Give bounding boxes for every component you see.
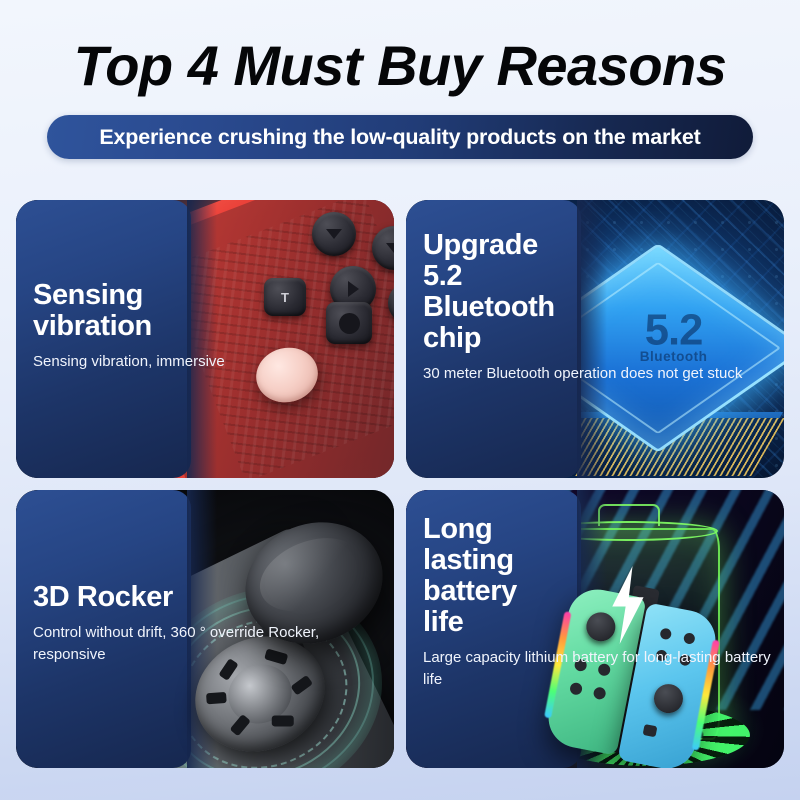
card-description: Large capacity lithium battery for long-…: [423, 647, 776, 691]
card-text-content: Upgrade 5.2 Bluetooth chip 30 meter Blue…: [423, 230, 776, 385]
subtitle-banner: Experience crushing the low-quality prod…: [47, 115, 753, 159]
card-title-line: life: [423, 607, 776, 638]
card-text-content: Sensing vibration Sensing vibration, imm…: [33, 280, 386, 373]
card-title-line: vibration: [33, 311, 386, 342]
feature-card-battery-life[interactable]: Long lasting battery life Large capacity…: [406, 490, 784, 768]
subtitle-banner-wrapper: Experience crushing the low-quality prod…: [0, 115, 800, 159]
card-title: Upgrade 5.2 Bluetooth chip: [423, 230, 776, 354]
card-title: 3D Rocker: [33, 582, 386, 613]
feature-card-grid: T Sensing vibration Sensing vibration, i…: [16, 200, 784, 782]
card-title-line: 5.2: [423, 261, 776, 292]
card-title-line: battery: [423, 576, 776, 607]
card-title-line: chip: [423, 323, 776, 354]
card-title-line: Upgrade: [423, 230, 776, 261]
feature-card-sensing-vibration[interactable]: T Sensing vibration Sensing vibration, i…: [16, 200, 394, 478]
card-title-line: lasting: [423, 545, 776, 576]
dpad-down-button-icon: [312, 212, 356, 256]
feature-card-bluetooth-chip[interactable]: 5.2 Bluetooth Upgrade 5.2 Bluetooth chip…: [406, 200, 784, 478]
card-title: Sensing vibration: [33, 280, 386, 342]
card-description: Sensing vibration, immersive: [33, 351, 386, 373]
card-title-line: Long: [423, 514, 776, 545]
card-description: 30 meter Bluetooth operation does not ge…: [423, 363, 776, 385]
card-title-line: Sensing: [33, 280, 386, 311]
page-title: Top 4 Must Buy Reasons: [0, 0, 800, 94]
card-title: Long lasting battery life: [423, 514, 776, 638]
card-text-content: 3D Rocker Control without drift, 360 ° o…: [33, 582, 386, 666]
card-title-line: Bluetooth: [423, 292, 776, 323]
subtitle-banner-text: Experience crushing the low-quality prod…: [99, 125, 700, 150]
feature-card-3d-rocker[interactable]: 3D Rocker Control without drift, 360 ° o…: [16, 490, 394, 768]
card-text-content: Long lasting battery life Large capacity…: [423, 514, 776, 691]
card-description: Control without drift, 360 ° override Ro…: [33, 622, 386, 666]
